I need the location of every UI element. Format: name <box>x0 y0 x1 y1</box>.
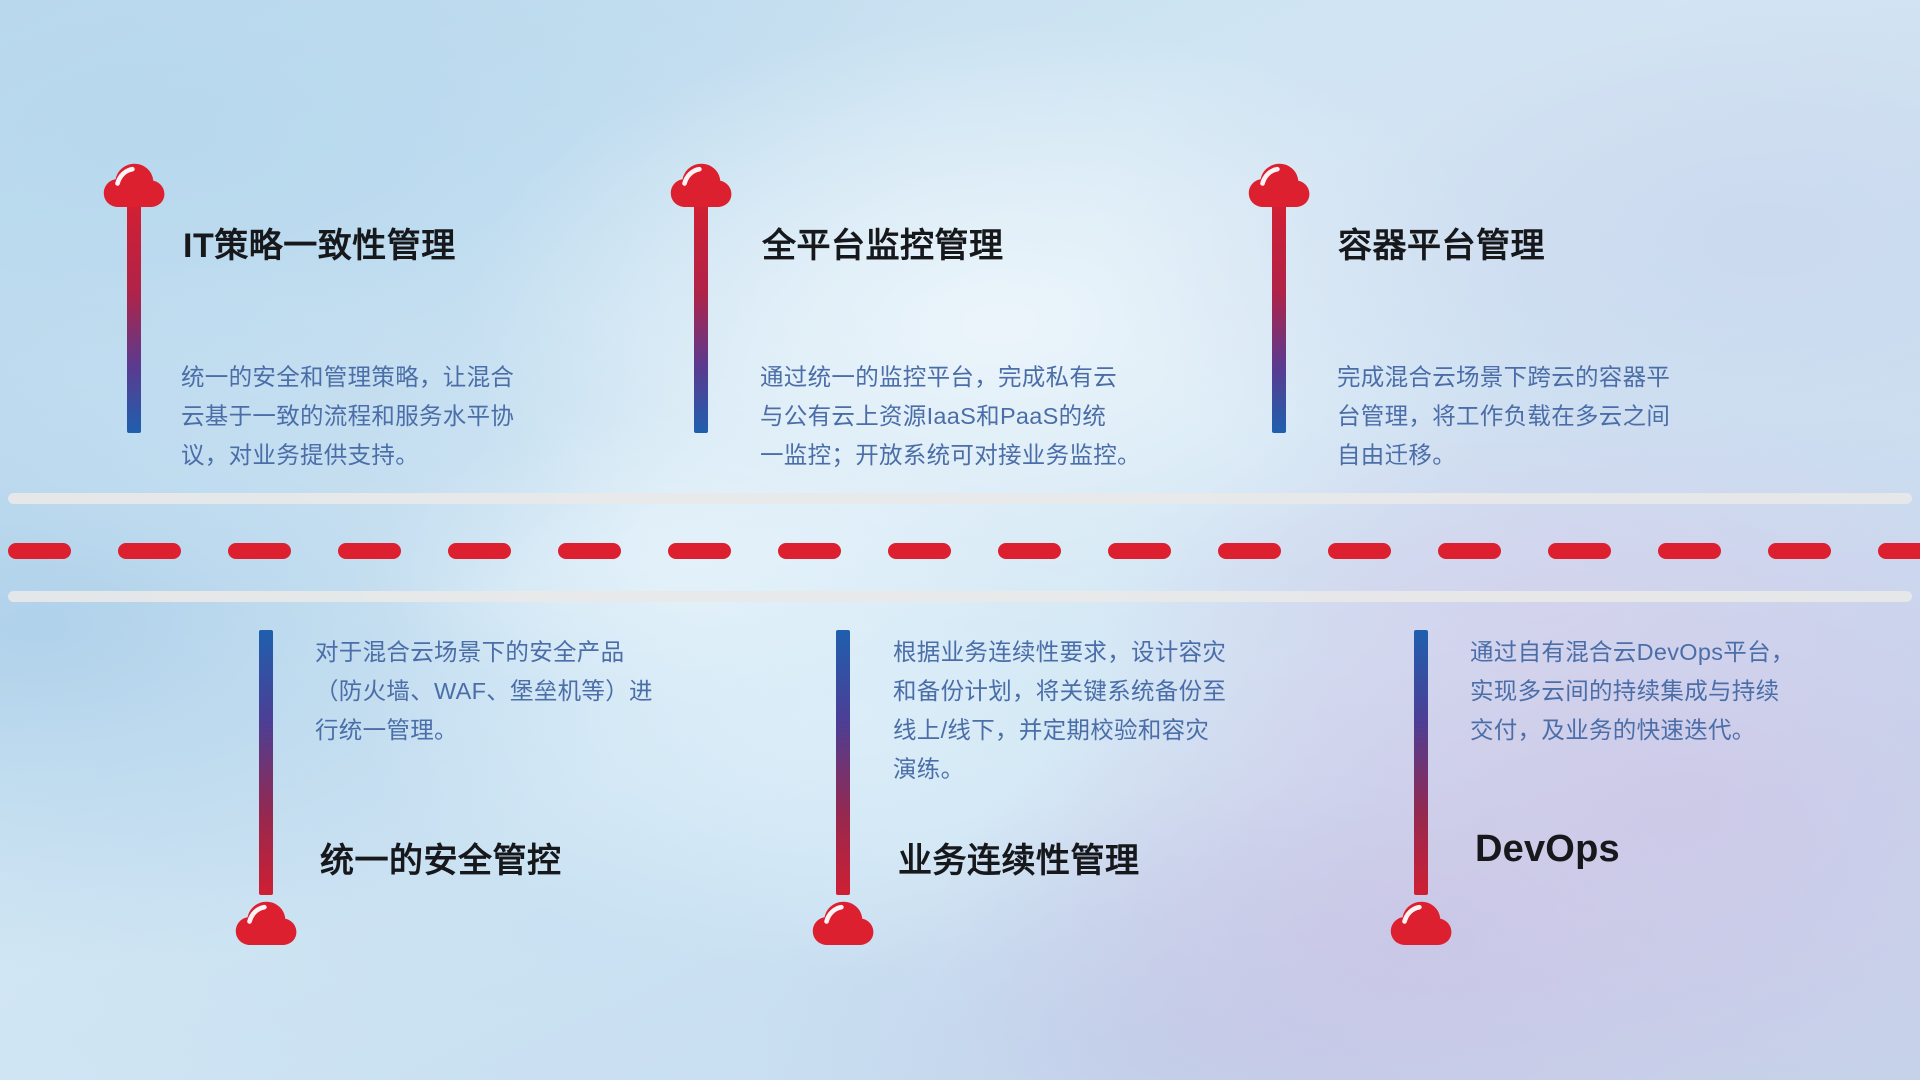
divider-dash <box>8 543 71 559</box>
heading-top-2: 全平台监控管理 <box>762 218 1004 267</box>
dashed-road-divider <box>0 540 1920 562</box>
stem-top-1 <box>127 190 141 433</box>
infographic-canvas: IT策略一致性管理 统一的安全和管理策略，让混合 云基于一致的流程和服务水平协 … <box>0 0 1920 1080</box>
heading-top-3: 容器平台管理 <box>1338 218 1545 267</box>
stem-bottom-2 <box>836 630 850 895</box>
cloud-icon <box>1390 900 1452 948</box>
divider-dash <box>1438 543 1501 559</box>
stem-bottom-1 <box>259 630 273 895</box>
body-bottom-1: 对于混合云场景下的安全产品 （防火墙、WAF、堡垒机等）进 行统一管理。 <box>315 633 745 750</box>
divider-dash <box>338 543 401 559</box>
divider-dash <box>1218 543 1281 559</box>
stem-top-3 <box>1272 190 1286 433</box>
body-bottom-2: 根据业务连续性要求，设计容灾 和备份计划，将关键系统备份至 线上/线下，并定期校… <box>893 633 1323 789</box>
stem-top-2 <box>694 190 708 433</box>
divider-dash <box>558 543 621 559</box>
divider-dash <box>118 543 181 559</box>
divider-dash <box>1878 543 1920 559</box>
divider-dash <box>1658 543 1721 559</box>
body-top-3: 完成混合云场景下跨云的容器平 台管理，将工作负载在多云之间 自由迁移。 <box>1337 358 1777 475</box>
divider-dash <box>778 543 841 559</box>
cloud-icon <box>1248 162 1310 210</box>
divider-line-top <box>8 493 1912 504</box>
divider-dash <box>1328 543 1391 559</box>
body-bottom-3: 通过自有混合云DevOps平台， 实现多云间的持续集成与持续 交付，及业务的快速… <box>1470 633 1900 750</box>
divider-dash <box>1768 543 1831 559</box>
divider-dash <box>1108 543 1171 559</box>
divider-dash <box>448 543 511 559</box>
divider-dash <box>228 543 291 559</box>
stem-bottom-3 <box>1414 630 1428 895</box>
divider-dash <box>1548 543 1611 559</box>
heading-bottom-2: 业务连续性管理 <box>898 833 1140 882</box>
heading-top-1: IT策略一致性管理 <box>183 218 456 267</box>
cloud-icon <box>103 162 165 210</box>
cloud-icon <box>812 900 874 948</box>
heading-bottom-3: DevOps <box>1475 828 1620 871</box>
divider-dash <box>888 543 951 559</box>
divider-dash <box>668 543 731 559</box>
divider-dash <box>998 543 1061 559</box>
body-top-1: 统一的安全和管理策略，让混合 云基于一致的流程和服务水平协 议，对业务提供支持。 <box>181 358 611 475</box>
cloud-icon <box>670 162 732 210</box>
body-top-2: 通过统一的监控平台，完成私有云 与公有云上资源IaaS和PaaS的统 一监控；开… <box>760 358 1210 475</box>
divider-line-bottom <box>8 591 1912 602</box>
heading-bottom-1: 统一的安全管控 <box>320 833 562 882</box>
cloud-icon <box>235 900 297 948</box>
